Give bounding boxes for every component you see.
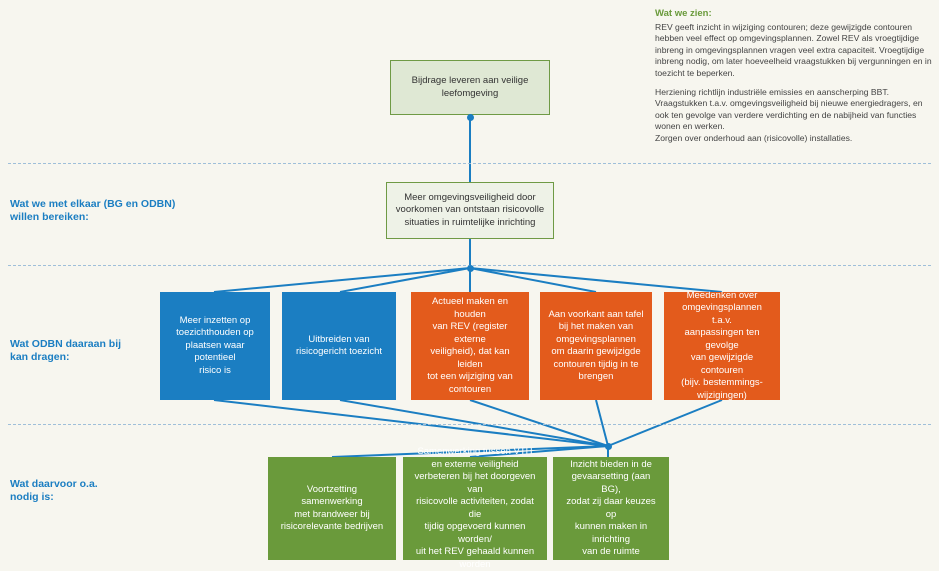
node-main-goal[interactable]: Meer omgevingsveiligheid door voorkomen … [386,182,554,239]
lane-divider-1 [8,163,931,164]
node-contribution-1[interactable]: Meer inzetten op toezichthouden op plaat… [160,292,270,400]
lane-label-bereiken: Wat we met elkaar (BG en ODBN) willen be… [10,198,175,224]
lane-label-bijdragen: Wat ODBN daaraan bij kan dragen: [10,338,121,364]
node-contribution-3[interactable]: Actueel maken en houden van REV (registe… [411,292,529,400]
notes-title: Wat we zien: [655,8,933,20]
node-contribution-5[interactable]: Meedenken over omgevingsplannen t.a.v. a… [664,292,780,400]
node-contribution-2[interactable]: Uitbreiden van risicogericht toezicht [282,292,396,400]
node-need-1[interactable]: Voortzetting samenwerking met brandweer … [268,457,396,560]
notes-paragraph-3: Vraagstukken t.a.v. omgevingsveiligheid … [655,98,933,133]
lane-divider-3 [8,424,931,425]
node-need-3[interactable]: Inzicht bieden in de gevaarsetting (aan … [553,457,669,560]
notes-panel: Wat we zien: REV geeft inzicht in wijzig… [655,8,933,145]
notes-paragraph-4: Zorgen over onderhoud aan (risicovolle) … [655,133,933,145]
connector-node-goal-fanout [467,265,474,272]
notes-paragraph-1: REV geeft inzicht in wijziging contouren… [655,22,933,80]
diagram-canvas: Wat we met elkaar (BG en ODBN) willen be… [0,0,939,560]
connector-node-top [467,114,474,121]
connector-node-lower-join [605,443,612,450]
node-top-goal[interactable]: Bijdrage leveren aan veilige leefomgevin… [390,60,550,115]
node-contribution-4[interactable]: Aan voorkant aan tafel bij het maken van… [540,292,652,400]
notes-paragraph-2: Herziening richtlijn industriële emissie… [655,87,933,99]
lane-label-nodig: Wat daarvoor o.a. nodig is: [10,478,98,504]
node-need-2[interactable]: Samenwerking tussen VTH en externe veili… [403,457,547,560]
